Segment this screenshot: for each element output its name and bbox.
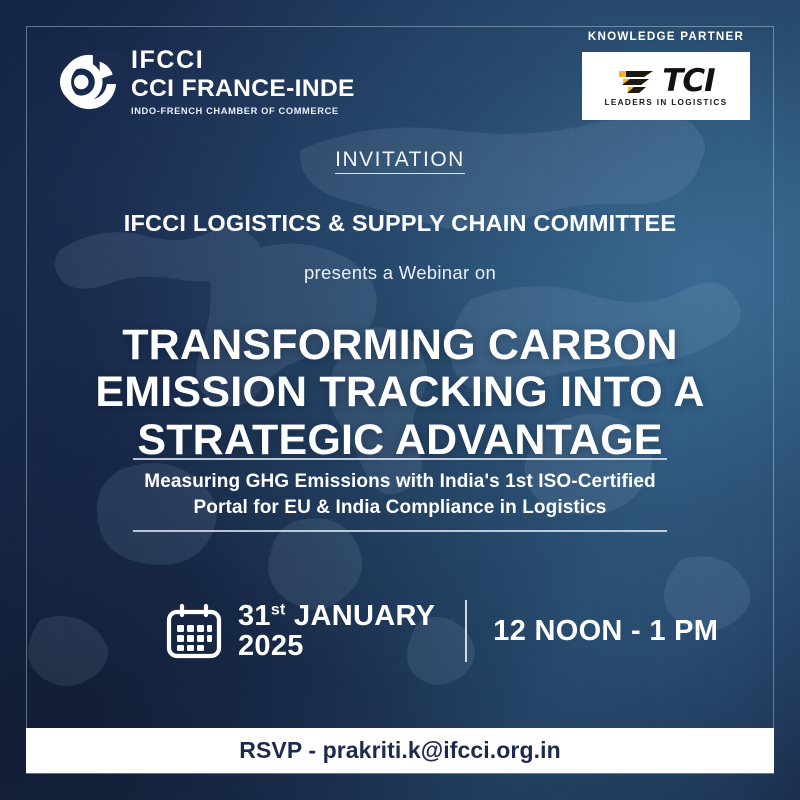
event-date-month: JANUARY (294, 600, 435, 632)
ifcci-logo: IFCCI CCI FRANCE-INDE INDO-FRENCH CHAMBE… (58, 48, 355, 116)
event-date-ordinal: st (271, 601, 286, 618)
event-invitation-poster: IFCCI CCI FRANCE-INDE INDO-FRENCH CHAMBE… (0, 0, 800, 800)
webinar-subtitle-line-2: Portal for EU & India Compliance in Logi… (133, 495, 667, 522)
event-date: 31st JANUARY 2025 (238, 601, 435, 662)
webinar-subtitle-line-1: Measuring GHG Emissions with India's 1st… (133, 469, 667, 496)
webinar-title-line-2: EMISSION TRACKING INTO A (60, 369, 740, 416)
ifcci-wordmark: IFCCI CCI FRANCE-INDE INDO-FRENCH CHAMBE… (131, 48, 355, 116)
webinar-subtitle-block: Measuring GHG Emissions with India's 1st… (133, 458, 667, 532)
subtitle-divider-bottom (133, 530, 667, 532)
event-time: 12 NOON - 1 PM (493, 615, 718, 648)
webinar-title-line-1: TRANSFORMING CARBON (60, 322, 740, 369)
webinar-title: TRANSFORMING CARBON EMISSION TRACKING IN… (60, 322, 740, 464)
ifcci-name-line2: CCI FRANCE-INDE (131, 77, 355, 102)
committee-name: IFCCI LOGISTICS & SUPPLY CHAIN COMMITTEE (0, 210, 800, 237)
tci-tagline: LEADERS IN LOGISTICS (605, 98, 728, 107)
invitation-heading: INVITATION (0, 148, 800, 172)
presents-line: presents a Webinar on (0, 262, 800, 284)
tci-wordmark: TCI (662, 66, 714, 97)
poster-header: IFCCI CCI FRANCE-INDE INDO-FRENCH CHAMBE… (0, 0, 800, 140)
ifcci-tagline: INDO-FRENCH CHAMBER OF COMMERCE (131, 107, 355, 116)
event-date-year: 2025 (238, 630, 304, 662)
event-date-line-1: 31st JANUARY (238, 600, 435, 632)
invitation-text: INVITATION (335, 148, 465, 174)
knowledge-partner-label: KNOWLEDGE PARTNER (582, 30, 750, 43)
calendar-icon (166, 603, 222, 659)
knowledge-partner-block: KNOWLEDGE PARTNER (582, 30, 750, 120)
event-date-day: 31 (238, 600, 271, 632)
ifcci-name-line1: IFCCI (131, 48, 355, 73)
webinar-subtitle: Measuring GHG Emissions with India's 1st… (133, 460, 667, 531)
ifcci-circle-logo-icon (58, 51, 120, 113)
date-time-block: 31st JANUARY 2025 12 NOON - 1 PM (166, 600, 718, 662)
rsvp-bar: RSVP - prakriti.k@ifcci.org.in (26, 728, 774, 773)
tci-logo: TCI LEADERS IN LOGISTICS (582, 52, 750, 120)
webinar-title-line-3: STRATEGIC ADVANTAGE (60, 417, 740, 464)
tci-arrow-icon (617, 68, 657, 95)
rsvp-text[interactable]: RSVP - prakriti.k@ifcci.org.in (239, 737, 561, 764)
date-time-divider (465, 600, 467, 662)
